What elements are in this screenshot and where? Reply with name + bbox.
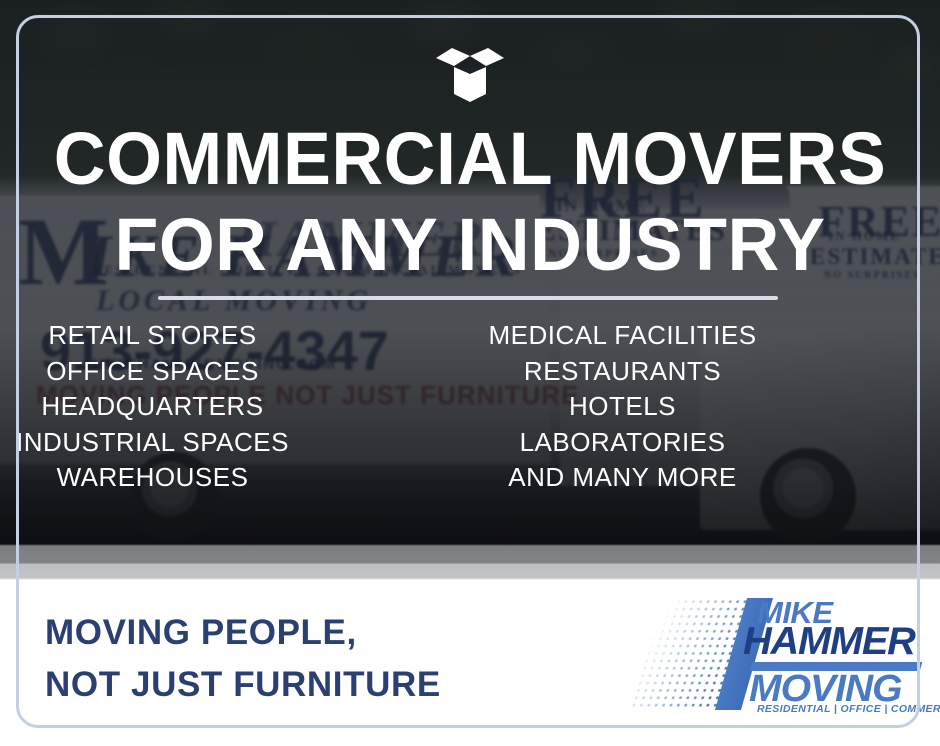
list-item: WAREHOUSES: [0, 460, 305, 496]
list-item: AND MANY MORE: [470, 460, 775, 496]
list-item: HOTELS: [470, 389, 775, 425]
tagline-line-1: MOVING PEOPLE,: [45, 607, 441, 659]
headline-divider: [158, 296, 778, 300]
commercial-movers-ad: M IKE HAMMER RESIDENTIAL | OFFICE | COMM…: [0, 0, 940, 746]
list-item: RESTAURANTS: [470, 354, 775, 390]
industry-list-left: RETAIL STORES OFFICE SPACES HEADQUARTERS…: [0, 318, 460, 496]
hero-footer-fade: [0, 544, 940, 584]
industry-list-right: MEDICAL FACILITIES RESTAURANTS HOTELS LA…: [460, 318, 940, 496]
footer-section: MOVING PEOPLE, NOT JUST FURNITURE MIKE H…: [0, 580, 940, 746]
open-box-icon: [426, 36, 514, 102]
list-item: HEADQUARTERS: [0, 389, 305, 425]
tagline: MOVING PEOPLE, NOT JUST FURNITURE: [45, 607, 441, 711]
industry-lists: RETAIL STORES OFFICE SPACES HEADQUARTERS…: [0, 318, 940, 496]
mike-hammer-moving-logo: MIKE HAMMER MOVING RESIDENTIAL | OFFICE …: [645, 592, 903, 714]
list-item: INDUSTRIAL SPACES: [0, 425, 305, 461]
headline-line-2: FOR ANY INDUSTRY: [14, 202, 926, 288]
list-item: LABORATORIES: [470, 425, 775, 461]
logo-services-line: RESIDENTIAL | OFFICE | COMMERCIAL: [757, 703, 940, 715]
list-item: MEDICAL FACILITIES: [470, 318, 775, 354]
tagline-line-2: NOT JUST FURNITURE: [45, 659, 441, 711]
list-item: RETAIL STORES: [0, 318, 305, 354]
headline: COMMERCIAL MOVERS FOR ANY INDUSTRY: [14, 116, 926, 288]
logo-word-hammer: HAMMER: [743, 620, 915, 664]
headline-line-1: COMMERCIAL MOVERS: [54, 117, 886, 200]
list-item: OFFICE SPACES: [0, 354, 305, 390]
